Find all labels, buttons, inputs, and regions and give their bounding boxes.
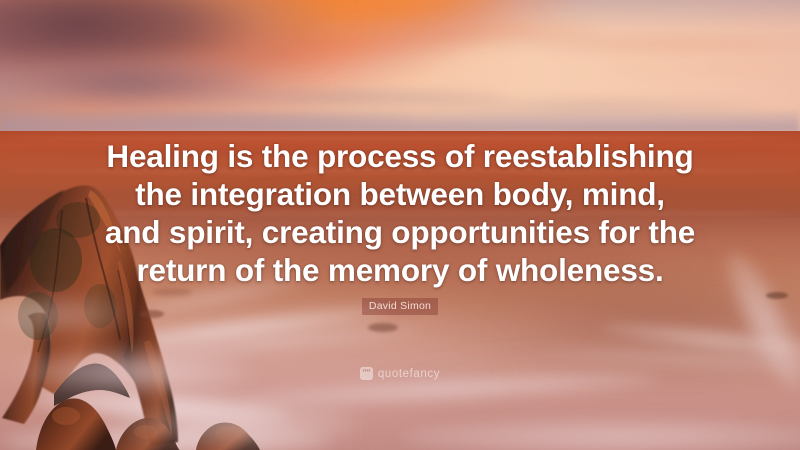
foam-streak (400, 420, 800, 450)
quote-wallpaper: Healing is the process of reestablishing… (0, 0, 800, 450)
horizon-haze (0, 108, 800, 133)
cloud-streak (530, 34, 800, 54)
watermark[interactable]: ““ quotefancy (0, 363, 800, 381)
distant-rock (368, 323, 398, 332)
sea-mist (120, 404, 360, 444)
author-row: David Simon (0, 296, 800, 315)
quotefancy-logo-glyph: ““ (362, 368, 370, 377)
quotefancy-logo-icon: ““ (360, 367, 373, 380)
quote-line: Healing is the process of reestablishing (60, 137, 740, 175)
quote-text: Healing is the process of reestablishing… (0, 137, 800, 289)
quote-line: return of the memory of wholeness. (60, 251, 740, 289)
author-name: David Simon (362, 298, 438, 315)
quote-line: and spirit, creating opportunities for t… (60, 213, 740, 251)
quote-line: the integration between body, mind, (60, 175, 740, 213)
watermark-brand: quotefancy (378, 368, 440, 380)
distant-rock (152, 288, 192, 296)
